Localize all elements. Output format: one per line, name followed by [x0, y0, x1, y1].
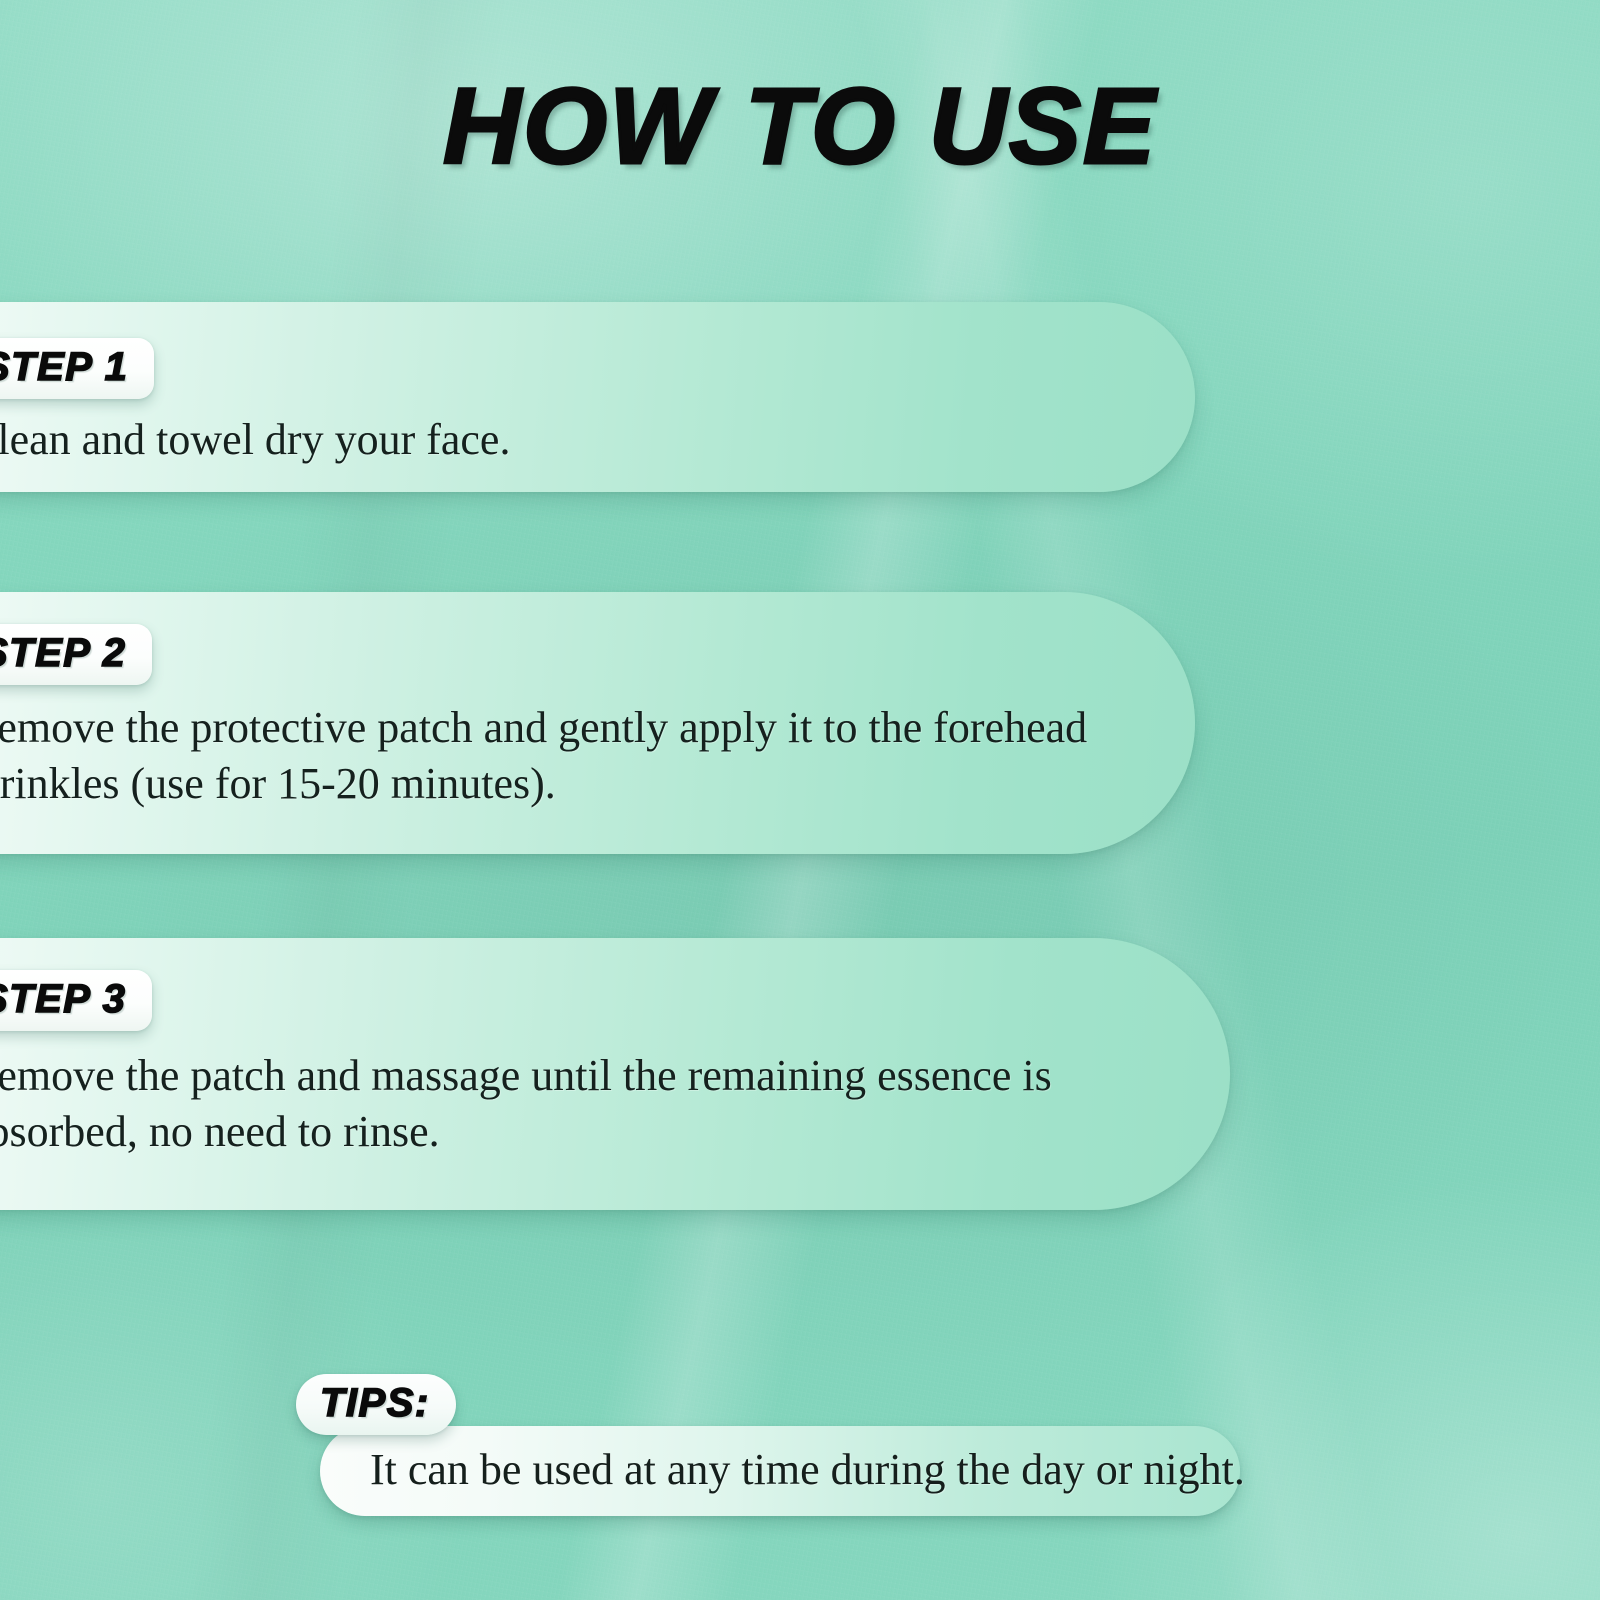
page-title: HOW TO USE [0, 72, 1600, 180]
step-badge-3: STEP 3 [0, 970, 152, 1031]
tips-text: It can be used at any time during the da… [370, 1446, 1245, 1494]
tips-badge: TIPS: [296, 1374, 456, 1435]
step-card-1: STEP 1 Clean and towel dry your face. [0, 302, 1195, 492]
step-card-2: STEP 2 Remove the protective patch and g… [0, 592, 1195, 854]
step-card-3-inner: STEP 3 Remove the patch and massage unti… [0, 938, 1230, 1210]
step-badge-2: STEP 2 [0, 624, 152, 685]
step-text-1: Clean and towel dry your face. [0, 412, 1118, 468]
how-to-use-infographic: HOW TO USE STEP 1 Clean and towel dry yo… [0, 0, 1600, 1600]
step-text-3: Remove the patch and massage until the r… [0, 1048, 1068, 1161]
step-badge-1: STEP 1 [0, 338, 154, 399]
step-text-2: Remove the protective patch and gently a… [0, 700, 1108, 813]
step-card-1-inner: STEP 1 Clean and towel dry your face. [0, 302, 1195, 492]
tips-section: It can be used at any time during the da… [296, 1374, 1256, 1534]
tips-bar: It can be used at any time during the da… [320, 1426, 1240, 1516]
step-card-3: STEP 3 Remove the patch and massage unti… [0, 938, 1230, 1210]
step-card-2-inner: STEP 2 Remove the protective patch and g… [0, 592, 1195, 854]
